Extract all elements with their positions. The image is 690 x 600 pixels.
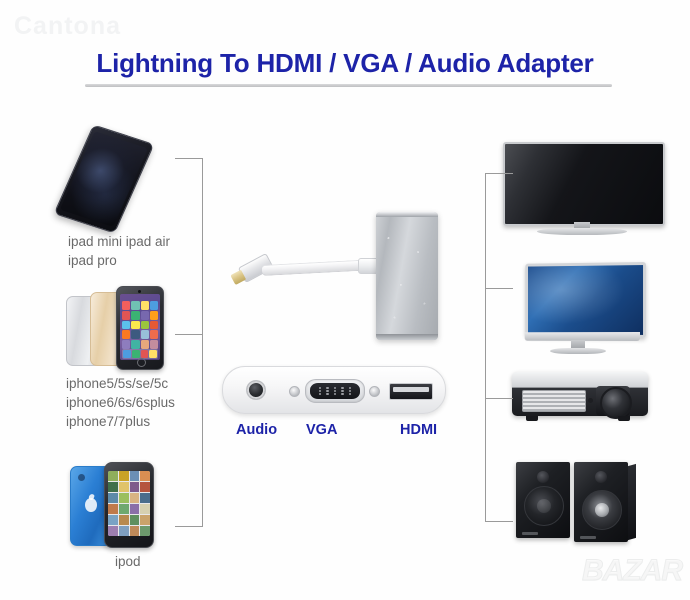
iphone-label-line2: iphone6/6s/6splus: [66, 393, 175, 412]
adapter-port-strip: [222, 366, 446, 414]
hdmi-port-label: HDMI: [400, 422, 437, 438]
output-bracket-tick-speakers: [485, 521, 513, 522]
output-bracket-tick-monitor: [485, 288, 513, 289]
ipod-label: ipod: [115, 552, 141, 571]
output-bracket-tick-projector: [485, 398, 513, 399]
input-bracket-tick-ipad: [175, 158, 203, 159]
audio-port-label: Audio: [236, 422, 277, 438]
infographic-canvas: Cantona BAZAR Lightning To HDMI / VGA / …: [0, 0, 690, 600]
iphone-trio-icon: [66, 286, 170, 370]
projector-icon: [512, 372, 648, 426]
output-bracket-tick-tv: [485, 173, 513, 174]
vga-screw-right-icon: [369, 386, 380, 397]
ipad-label-line2: ipad pro: [68, 251, 117, 270]
title-underline: [85, 84, 612, 87]
speakers-icon: [516, 462, 640, 546]
audio-jack-icon: [247, 381, 265, 399]
monitor-icon: [512, 262, 644, 354]
ipad-tablet-icon: [72, 130, 158, 230]
vga-port-icon: [305, 379, 365, 403]
vga-port-label: VGA: [306, 422, 337, 438]
iphone-label-line1: iphone5/5s/se/5c: [66, 374, 168, 393]
vga-screw-left-icon: [289, 386, 300, 397]
input-bracket-tick-iphone: [175, 334, 203, 335]
ipod-touch-icon: [70, 462, 174, 546]
hdmi-port-icon: [389, 383, 433, 400]
output-bracket-spine: [485, 173, 486, 521]
cantona-watermark: Cantona: [14, 12, 121, 41]
input-bracket-spine: [202, 158, 203, 526]
hdmi-vga-audio-adapter-body: [376, 212, 438, 340]
bazar-watermark: BAZAR: [582, 554, 682, 588]
tv-icon: [503, 142, 661, 236]
page-title: Lightning To HDMI / VGA / Audio Adapter: [0, 48, 690, 79]
iphone-label-line3: iphone7/7plus: [66, 412, 150, 431]
input-bracket-tick-ipod: [175, 526, 203, 527]
ipad-label-line1: ipad mini ipad air: [68, 232, 170, 251]
